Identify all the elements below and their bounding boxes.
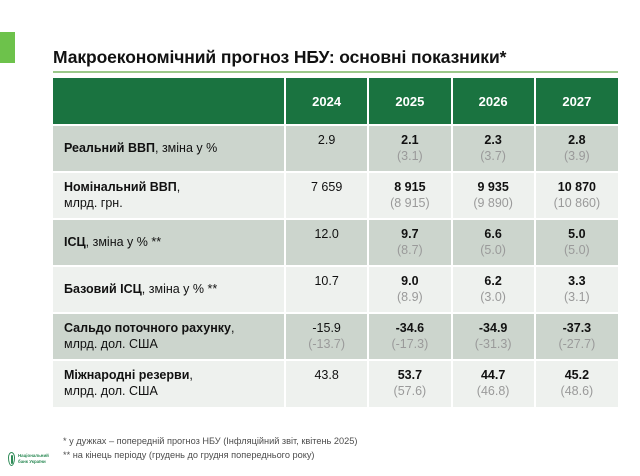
value-main: -34.6: [369, 321, 450, 337]
nbu-logo-text: Національний банк України: [18, 453, 49, 465]
value-previous-forecast: (8.7): [369, 243, 450, 259]
value-cell: -37.3(-27.7): [535, 313, 618, 360]
row-label-cell: Реальний ВВП, зміна у %: [53, 125, 285, 172]
row-label-bold: Міжнародні резерви: [64, 368, 189, 382]
value-main: -34.9: [453, 321, 534, 337]
nbu-logo: Національний банк України: [8, 452, 49, 466]
table-row: Міжнародні резерви,млрд. дол. США43.8 53…: [53, 360, 618, 407]
value-cell: -15.9(-13.7): [285, 313, 368, 360]
value-previous-forecast: (8.9): [369, 290, 450, 306]
value-cell: 5.0(5.0): [535, 219, 618, 266]
value-cell: 9.0(8.9): [368, 266, 451, 313]
value-previous-forecast: (3.1): [536, 290, 618, 306]
value-main: 12.0: [286, 227, 367, 243]
value-previous-forecast: (48.6): [536, 384, 618, 400]
footnote-2: ** на кінець періоду (грудень до грудня …: [63, 448, 543, 462]
value-cell: 44.7(46.8): [452, 360, 535, 407]
value-main: 2.3: [453, 133, 534, 149]
trident-leaf-icon: [8, 452, 15, 466]
value-previous-forecast: (57.6): [369, 384, 450, 400]
value-previous-forecast: (10 860): [536, 196, 618, 212]
footnotes: * у дужках – попередній прогноз НБУ (Інф…: [63, 434, 543, 463]
value-cell: 45.2(48.6): [535, 360, 618, 407]
value-previous-forecast: (-17.3): [369, 337, 450, 353]
value-main: 5.0: [536, 227, 618, 243]
header-cell-2026: 2026: [452, 78, 535, 125]
value-cell: 8 915(8 915): [368, 172, 451, 219]
header-cell-2027: 2027: [535, 78, 618, 125]
row-label-bold: Реальний ВВП: [64, 141, 155, 155]
value-main: 9.0: [369, 274, 450, 290]
value-cell: 43.8: [285, 360, 368, 407]
row-label-bold: Сальдо поточного рахунку: [64, 321, 231, 335]
value-cell: 6.2(3.0): [452, 266, 535, 313]
value-cell: 2.8(3.9): [535, 125, 618, 172]
value-cell: 12.0: [285, 219, 368, 266]
value-main: 45.2: [536, 368, 618, 384]
corner-accent-square: [0, 32, 15, 63]
table-row: Сальдо поточного рахунку,млрд. дол. США-…: [53, 313, 618, 360]
title-underline-rule: [53, 71, 618, 73]
value-cell: 7 659: [285, 172, 368, 219]
row-label-cell: Сальдо поточного рахунку,млрд. дол. США: [53, 313, 285, 360]
row-label-cell: ІСЦ, зміна у % **: [53, 219, 285, 266]
value-cell: -34.6(-17.3): [368, 313, 451, 360]
value-cell: 9.7(8.7): [368, 219, 451, 266]
value-main: 2.8: [536, 133, 618, 149]
value-previous-forecast: (5.0): [536, 243, 618, 259]
table-row: Реальний ВВП, зміна у %2.9 2.1(3.1)2.3(3…: [53, 125, 618, 172]
header-cell-2025: 2025: [368, 78, 451, 125]
value-main: 6.2: [453, 274, 534, 290]
footnote-1: * у дужках – попередній прогноз НБУ (Інф…: [63, 434, 543, 448]
row-label-cell: Базовий ІСЦ, зміна у % **: [53, 266, 285, 313]
value-main: 6.6: [453, 227, 534, 243]
value-main: -15.9: [286, 321, 367, 337]
macro-forecast-table: 2024 2025 2026 2027 Реальний ВВП, зміна …: [53, 78, 618, 407]
row-label-line2: млрд. грн.: [64, 196, 278, 212]
value-cell: 10 870(10 860): [535, 172, 618, 219]
value-main: 2.9: [286, 133, 367, 149]
row-label-bold: Базовий ІСЦ: [64, 282, 142, 296]
value-main: 43.8: [286, 368, 367, 384]
row-label-line2: млрд. дол. США: [64, 384, 278, 400]
table-header: 2024 2025 2026 2027: [53, 78, 618, 125]
value-main: 10.7: [286, 274, 367, 290]
page-title: Макроекономічний прогноз НБУ: основні по…: [53, 47, 593, 68]
row-label-rest: ,: [231, 321, 234, 335]
value-cell: 3.3(3.1): [535, 266, 618, 313]
row-label-rest: , зміна у %: [155, 141, 217, 155]
row-label-bold: ІСЦ: [64, 235, 86, 249]
header-cell-indicator: [53, 78, 285, 125]
value-main: 9 935: [453, 180, 534, 196]
value-previous-forecast: (-27.7): [536, 337, 618, 353]
value-previous-forecast: (3.7): [453, 149, 534, 165]
value-main: -37.3: [536, 321, 618, 337]
value-previous-forecast: (8 915): [369, 196, 450, 212]
macro-forecast-table-wrapper: 2024 2025 2026 2027 Реальний ВВП, зміна …: [53, 78, 618, 407]
row-label-rest: , зміна у % **: [142, 282, 217, 296]
value-cell: 9 935(9 890): [452, 172, 535, 219]
value-previous-forecast: (5.0): [453, 243, 534, 259]
row-label-line2: млрд. дол. США: [64, 337, 278, 353]
value-cell: 2.9: [285, 125, 368, 172]
value-cell: -34.9(-31.3): [452, 313, 535, 360]
value-main: 3.3: [536, 274, 618, 290]
value-main: 10 870: [536, 180, 618, 196]
value-cell: 53.7(57.6): [368, 360, 451, 407]
table-row: ІСЦ, зміна у % **12.0 9.7(8.7)6.6(5.0)5.…: [53, 219, 618, 266]
value-previous-forecast: (-31.3): [453, 337, 534, 353]
value-cell: 6.6(5.0): [452, 219, 535, 266]
value-previous-forecast: (3.9): [536, 149, 618, 165]
value-previous-forecast: (3.1): [369, 149, 450, 165]
table-body: Реальний ВВП, зміна у %2.9 2.1(3.1)2.3(3…: [53, 125, 618, 407]
value-main: 9.7: [369, 227, 450, 243]
slide-root: Макроекономічний прогноз НБУ: основні по…: [0, 0, 640, 476]
row-label-cell: Міжнародні резерви,млрд. дол. США: [53, 360, 285, 407]
value-main: 7 659: [286, 180, 367, 196]
value-main: 2.1: [369, 133, 450, 149]
row-label-bold: Номінальний ВВП: [64, 180, 177, 194]
table-row: Номінальний ВВП,млрд. грн.7 659 8 915(8 …: [53, 172, 618, 219]
header-row: 2024 2025 2026 2027: [53, 78, 618, 125]
value-previous-forecast: (9 890): [453, 196, 534, 212]
table-row: Базовий ІСЦ, зміна у % **10.7 9.0(8.9)6.…: [53, 266, 618, 313]
value-previous-forecast: (-13.7): [286, 337, 367, 353]
row-label-rest: , зміна у % **: [86, 235, 161, 249]
row-label-rest: ,: [177, 180, 180, 194]
value-main: 53.7: [369, 368, 450, 384]
row-label-rest: ,: [189, 368, 192, 382]
value-previous-forecast: (46.8): [453, 384, 534, 400]
value-cell: 2.1(3.1): [368, 125, 451, 172]
row-label-cell: Номінальний ВВП,млрд. грн.: [53, 172, 285, 219]
value-main: 8 915: [369, 180, 450, 196]
nbu-logo-line2: банк України: [18, 459, 49, 465]
header-cell-2024: 2024: [285, 78, 368, 125]
value-cell: 2.3(3.7): [452, 125, 535, 172]
value-cell: 10.7: [285, 266, 368, 313]
value-previous-forecast: (3.0): [453, 290, 534, 306]
value-main: 44.7: [453, 368, 534, 384]
